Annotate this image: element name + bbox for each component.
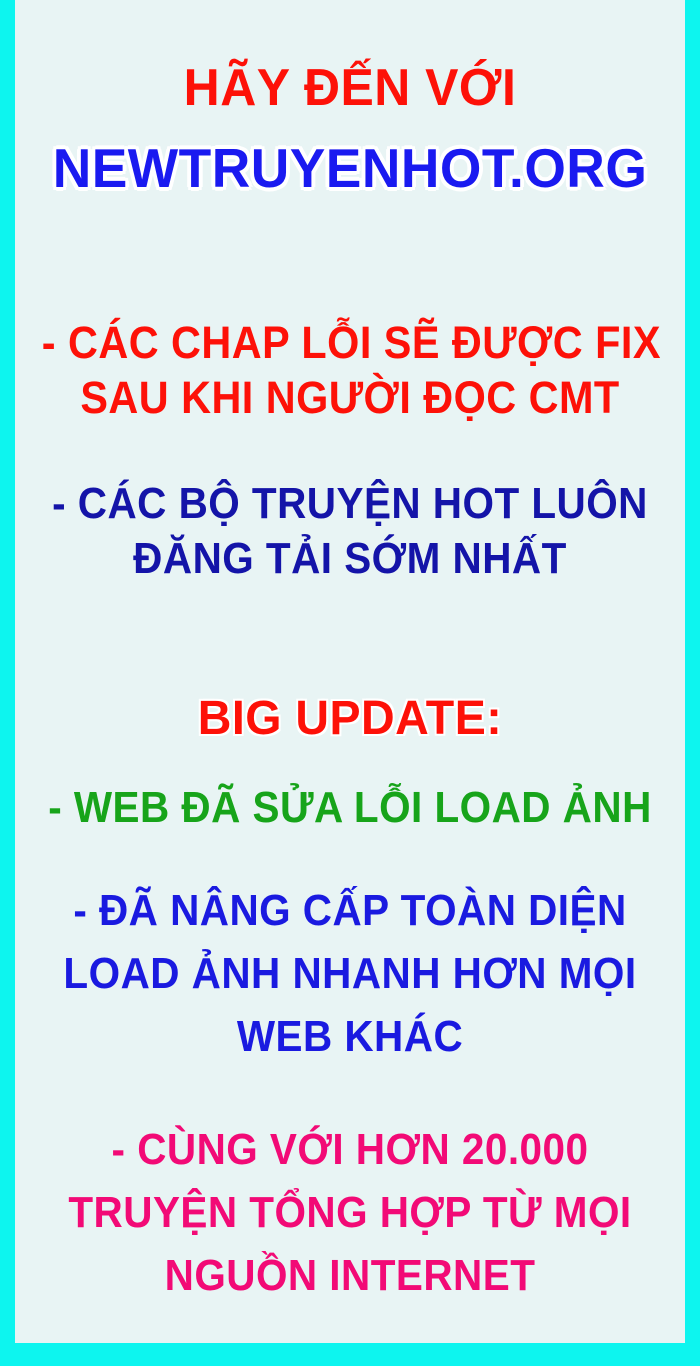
site-name-text[interactable]: NEWTRUYENHOT.ORG [25,141,675,196]
update-item-library-line-3: NGUỒN INTERNET [42,1254,658,1298]
notice-red-line-1: - CÁC CHAP LỖI SẼ ĐƯỢC FIX [42,320,658,365]
banner-content: HÃY ĐẾN VỚI NEWTRUYENHOT.ORG - CÁC CHAP … [15,0,685,1343]
cyan-rail-left [0,0,15,1343]
cyan-rail-right [685,0,700,1343]
update-item-library-line-1: - CÙNG VỚI HƠN 20.000 [42,1128,658,1172]
update-item-image-fix: - WEB ĐÃ SỬA LỖI LOAD ẢNH [42,786,658,830]
update-item-upgrade-line-3: WEB KHÁC [42,1015,658,1059]
promo-banner: HÃY ĐẾN VỚI NEWTRUYENHOT.ORG - CÁC CHAP … [0,0,700,1368]
notice-navy-line-2: ĐĂNG TẢI SỚM NHẤT [42,537,658,581]
update-item-upgrade-line-2: LOAD ẢNH NHANH HƠN MỌI [42,952,658,996]
headline-invite-text: HÃY ĐẾN VỚI [28,62,671,114]
big-update-title: BIG UPDATE: [25,695,675,743]
cyan-rail-bottom [0,1343,700,1366]
notice-navy-line-1: - CÁC BỘ TRUYỆN HOT LUÔN [42,482,658,526]
notice-red-line-2: SAU KHI NGƯỜI ĐỌC CMT [42,375,658,420]
update-item-library-line-2: TRUYỆN TỔNG HỢP TỪ MỌI [42,1191,658,1235]
update-item-upgrade-line-1: - ĐÃ NÂNG CẤP TOÀN DIỆN [42,889,658,933]
